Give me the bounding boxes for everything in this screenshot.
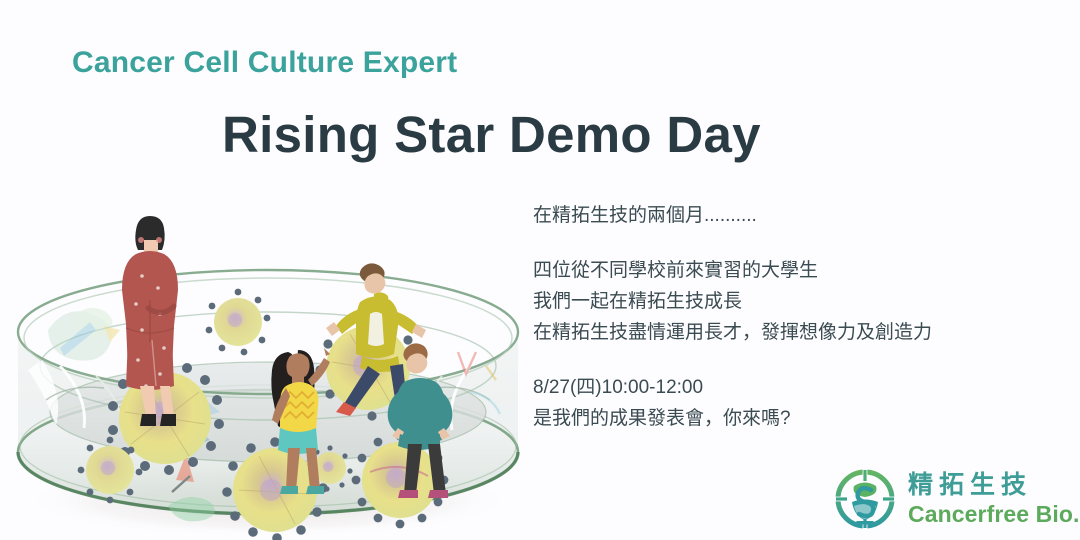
poster-canvas: Cancer Cell Culture Expert Rising Star D…	[0, 0, 1080, 540]
logo-text-block: 精拓生技 Cancerfree Bio.	[908, 473, 1080, 526]
people-graphic	[0, 180, 530, 540]
figure-woman-red-dress	[122, 216, 178, 426]
intro-line: 在精拓生技的兩個月..........	[533, 200, 1053, 231]
poster-subtitle: Cancer Cell Culture Expert	[72, 46, 457, 80]
page-title: Rising Star Demo Day	[222, 105, 761, 164]
event-invite: 是我們的成果發表會，你來嗎?	[533, 403, 1053, 434]
petri-dish-illustration	[0, 180, 530, 540]
company-logo: 精拓生技 Cancerfree Bio.	[832, 466, 1080, 532]
event-datetime: 8/27(四)10:00-12:00	[533, 372, 1053, 403]
figure-woman-yellow-top	[271, 348, 330, 494]
description-line-1: 四位從不同學校前來實習的大學生	[533, 255, 1053, 286]
description-line-2: 我們一起在精拓生技成長	[533, 286, 1053, 317]
description-line-3: 在精拓生技盡情運用長才，發揮想像力及創造力	[533, 317, 1053, 348]
paragraph-intro: 在精拓生技的兩個月..........	[533, 200, 1053, 231]
logo-english-name: Cancerfree Bio.	[908, 503, 1080, 526]
cancerfree-bio-logo-icon	[832, 466, 898, 532]
logo-chinese-name: 精拓生技	[908, 473, 1080, 498]
paragraph-description: 四位從不同學校前來實習的大學生 我們一起在精拓生技成長 在精拓生技盡情運用長才，…	[533, 255, 1053, 348]
body-copy: 在精拓生技的兩個月.......... 四位從不同學校前來實習的大學生 我們一起…	[533, 200, 1053, 434]
paragraph-event-details: 8/27(四)10:00-12:00 是我們的成果發表會，你來嗎?	[533, 372, 1053, 434]
